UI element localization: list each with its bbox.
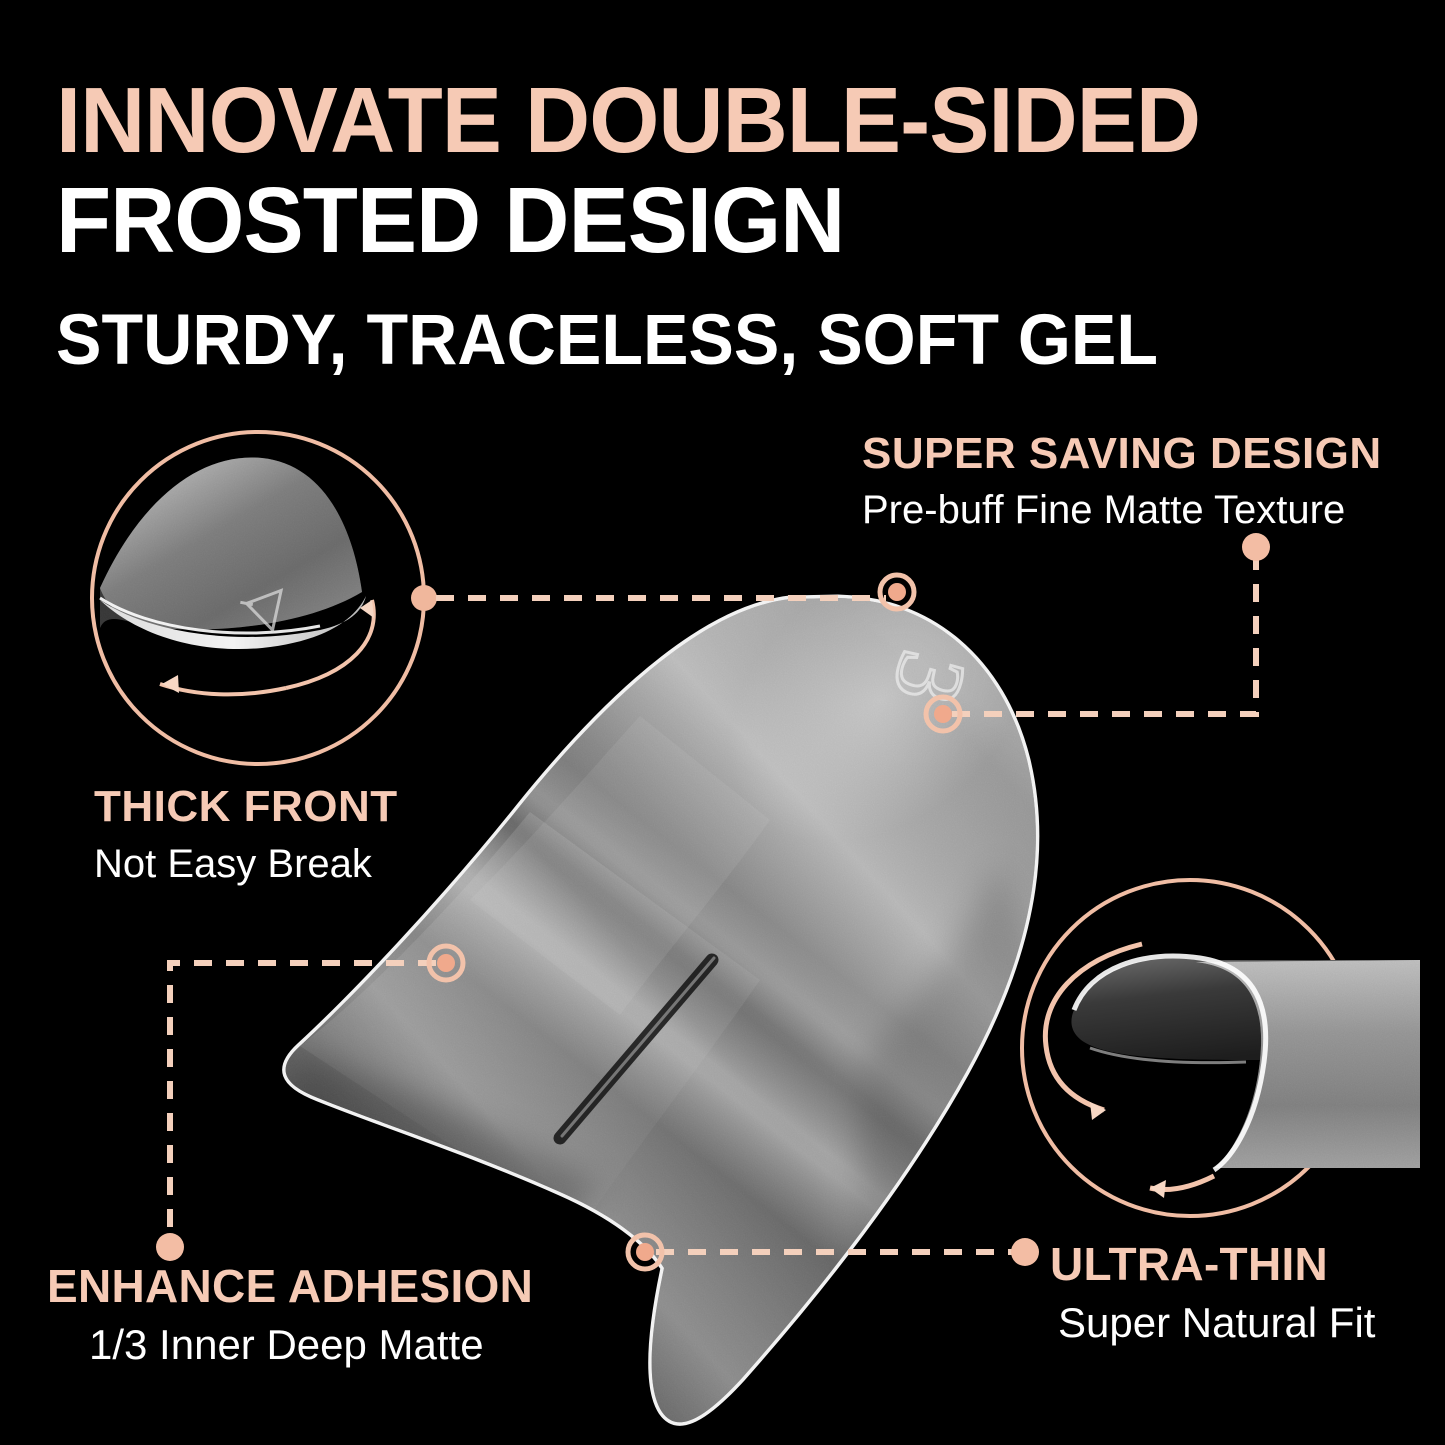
main-nail-tip: 3	[180, 499, 1157, 1445]
infographic-canvas: 3	[0, 0, 1445, 1445]
dot-ultra-thin	[1011, 1238, 1039, 1266]
detail-circle-thick-front	[92, 432, 437, 764]
connector-node	[411, 585, 437, 611]
detail-circle-ultra-thin	[1022, 880, 1420, 1216]
dot-super-saving	[1242, 533, 1270, 561]
product-illustration: 3	[0, 0, 1445, 1445]
dot-adhesion	[156, 1233, 184, 1261]
